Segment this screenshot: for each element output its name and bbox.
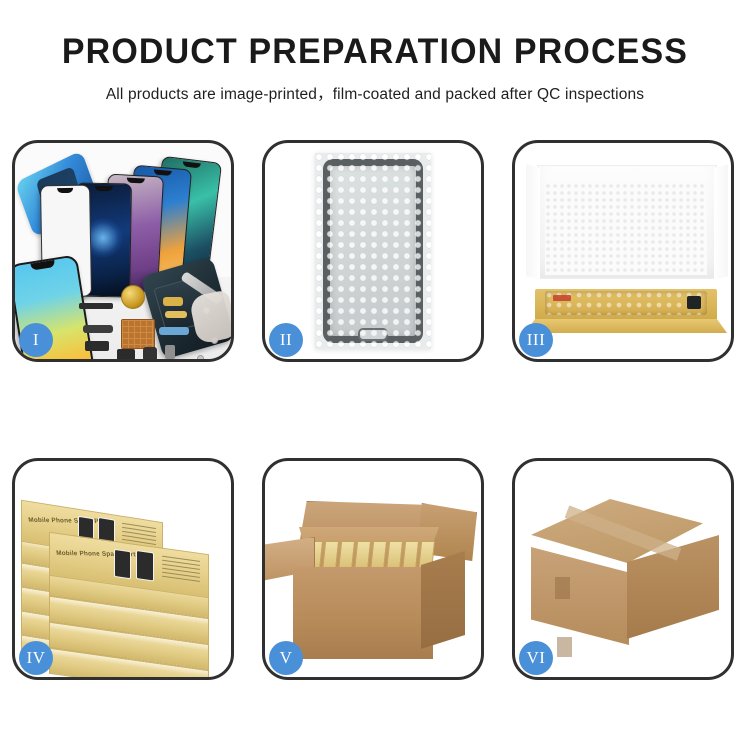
copper-grid-part	[121, 319, 155, 349]
step-badge-4: IV	[19, 641, 53, 675]
box-label-phone-image	[114, 549, 131, 579]
step-badge-3: III	[519, 323, 553, 357]
step-badge-5: V	[269, 641, 303, 675]
button-part	[143, 347, 157, 359]
step-panel-6: VI	[512, 458, 734, 680]
page-title: PRODUCT PREPARATION PROCESS	[11, 34, 739, 71]
step-badge-2: II	[269, 323, 303, 357]
carton-front-face	[293, 567, 433, 659]
process-steps-grid: I II III	[12, 140, 738, 680]
vibrator-part	[117, 349, 135, 359]
step-panel-2: II	[262, 140, 484, 362]
box-label-phone-image	[136, 550, 154, 582]
tape-tab	[557, 637, 572, 657]
carton-side-face	[421, 551, 465, 649]
black-flex-part	[83, 325, 113, 333]
sealed-carton-front	[531, 547, 629, 645]
box-label-spec-lines	[162, 556, 200, 585]
step-panel-5: V	[262, 458, 484, 680]
box-stack: Mobile Phone Spare Parts Mobile Phone Sp…	[21, 485, 231, 673]
screw-part	[197, 355, 204, 359]
gold-connector-part	[163, 297, 183, 306]
tape-tab	[555, 577, 570, 599]
step-panel-4: Mobile Phone Spare Parts Mobile Phone Sp…	[12, 458, 234, 680]
step-panel-3: III	[512, 140, 734, 362]
header: PRODUCT PREPARATION PROCESS All products…	[0, 0, 750, 104]
speaker-coil-part	[121, 285, 145, 309]
wrapped-phone-screen	[323, 159, 423, 343]
camera-module-part	[85, 341, 109, 351]
page-subtitle: All products are image-printed，film-coat…	[0, 82, 750, 104]
sim-tray-part	[165, 345, 175, 359]
blue-flex-part	[159, 327, 189, 335]
gold-flex-part	[165, 311, 187, 318]
step-badge-1: I	[19, 323, 53, 357]
foam-lining	[545, 183, 707, 275]
step-panel-1: I	[12, 140, 234, 362]
flex-cable-part	[79, 303, 113, 309]
bubble-wrap-sheet	[315, 153, 431, 349]
step-badge-6: VI	[519, 641, 553, 675]
packed-screen-in-box	[545, 291, 707, 315]
